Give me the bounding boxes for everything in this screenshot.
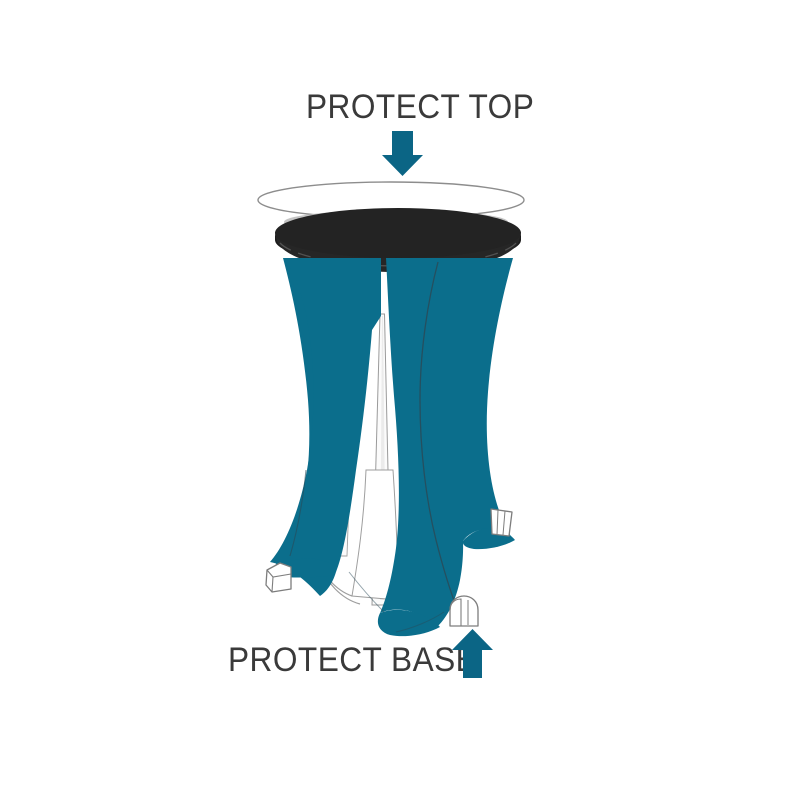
up-arrow-icon [452,629,493,678]
stretch-cover [268,258,515,636]
foot-cap-right-icon [491,509,512,536]
foot-cap-left-icon [266,563,291,592]
foot-cap-front-icon [450,596,478,626]
illustration-canvas: PROTECT TOP PROTECT BASE [0,0,800,800]
down-arrow-icon [382,131,423,176]
bistro-table-illustration [0,0,800,800]
